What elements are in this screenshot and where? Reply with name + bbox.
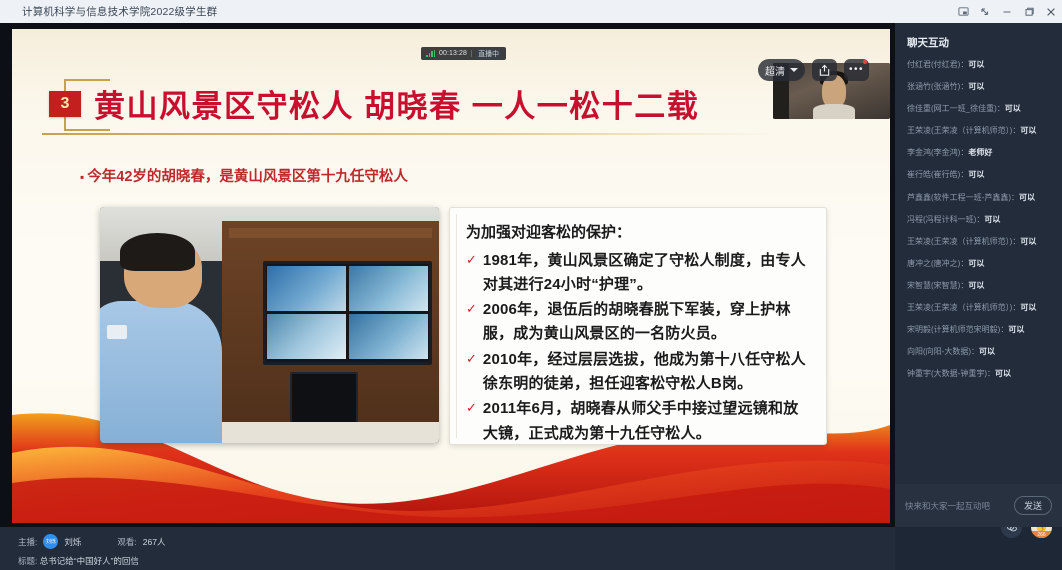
chat-message-sender: 王荣凌(王荣凌（计算机师范）)：: [907, 303, 1020, 312]
chat-message: 向阳(向阳-大数据)：可以: [907, 346, 1050, 358]
chat-message-sender: 宋明毅(计算机师范宋明毅)：: [907, 325, 1008, 334]
chat-message-body: 老师好: [968, 148, 992, 157]
chat-message: 王荣凌(王荣凌（计算机师范）)：可以: [907, 125, 1050, 137]
send-button[interactable]: 发送: [1014, 496, 1052, 515]
textbox-item: ✓ 2010年，经过层层选拔，他成为第十八任守松人徐东明的徒弟，担任迎客松守松人…: [466, 348, 812, 397]
photo-desk: [215, 422, 439, 443]
textbox-item: ✓ 2006年，退伍后的胡晓春脱下军装，穿上护林服，成为黄山风景区的一名防火员。: [466, 298, 812, 347]
avatar[interactable]: 刘烁: [43, 534, 58, 549]
chat-message-body: 可以: [1020, 303, 1036, 312]
chat-message: 王荣凌(王荣凌（计算机师范）)：可以: [907, 302, 1050, 314]
chat-message: 李金鸿(李金鸿)：老师好: [907, 147, 1050, 159]
host-row: 主播: 刘烁 刘烁 观看: 267人: [18, 534, 895, 549]
chat-message-body: 可以: [1019, 193, 1035, 202]
chat-message-sender: 冯程(冯程计科一班)：: [907, 215, 984, 224]
chat-message: 宋智慧(宋智慧)：可以: [907, 280, 1050, 292]
chat-input-placeholder[interactable]: 快来和大家一起互动吧: [905, 500, 1014, 512]
slide-textbox: 为加强对迎客松的保护： ✓ 1981年，黄山风景区确定了守松人制度，由专人对其进…: [449, 207, 827, 445]
chat-message-sender: 唐冲之(唐冲之)：: [907, 259, 968, 268]
subtitle-bullet-icon: ▪: [80, 170, 84, 184]
topic-row: 标题: 总书记给“中国好人”的回信: [18, 555, 895, 567]
chat-message-body: 可以: [984, 215, 1000, 224]
chat-panel-title: 聊天互动: [907, 35, 1062, 50]
chat-message-body: 可以: [1008, 325, 1024, 334]
chat-message-list[interactable]: 付红君(付红君)：可以张涵竹(张涵竹)：可以徐佳重(网工一班_徐佳重)：可以王荣…: [895, 59, 1062, 503]
viewers-label: 观看:: [117, 536, 136, 548]
chat-message-sender: 宋智慧(宋智慧)：: [907, 281, 968, 290]
pip-icon[interactable]: [952, 0, 974, 23]
chat-message-body: 可以: [1005, 104, 1021, 113]
chat-message-body: 可以: [968, 170, 984, 179]
more-options-icon[interactable]: •••: [844, 59, 869, 81]
photo-shelf: [229, 228, 432, 237]
signal-bars-icon: [426, 50, 435, 57]
chat-message-body: 可以: [968, 259, 984, 268]
host-name: 刘烁: [64, 536, 81, 548]
live-status-badge: 00:13:28 直播中: [421, 47, 506, 60]
presentation-slide: 3 黄山风景区守松人 胡晓春 一人一松十二载 ▪今年42岁的胡晓春，是黄山风景区…: [12, 29, 890, 523]
chat-message-body: 可以: [968, 281, 984, 290]
textbox-item: ✓ 2011年6月，胡晓春从师父手中接过望远镜和放大镜，正式成为第十九任守松人。: [466, 397, 812, 446]
photo-person-badge: [107, 325, 127, 339]
share-screen-icon[interactable]: [812, 59, 837, 81]
chat-message: 宋明毅(计算机师范宋明毅)：可以: [907, 324, 1050, 336]
check-icon: ✓: [466, 348, 477, 369]
chevron-down-icon: [790, 68, 798, 72]
chat-panel: 聊天互动 付红君(付红君)：可以张涵竹(张涵竹)：可以徐佳重(网工一班_徐佳重)…: [895, 23, 1062, 527]
chat-message: 徐佳重(网工一班_徐佳重)：可以: [907, 103, 1050, 115]
close-icon[interactable]: [1040, 0, 1062, 23]
host-label: 主播:: [18, 536, 37, 548]
chat-message-sender: 王荣凌(王荣凌（计算机师范）)：: [907, 237, 1020, 246]
chat-message-body: 可以: [979, 347, 995, 356]
title-underline: [42, 133, 772, 135]
stream-info-bar: 主播: 刘烁 刘烁 观看: 267人 标题: 总书记给“中国好人”的回信: [0, 527, 895, 570]
check-icon: ✓: [466, 397, 477, 418]
stream-stage: 3 黄山风景区守松人 胡晓春 一人一松十二载 ▪今年42岁的胡晓春，是黄山风景区…: [0, 23, 895, 527]
chat-message-body: 可以: [968, 60, 984, 69]
window-title-bar: 计算机科学与信息技术学院2022级学生群: [0, 0, 1062, 23]
chat-message-body: 可以: [995, 369, 1011, 378]
topic-value: 总书记给“中国好人”的回信: [40, 556, 139, 566]
chat-message-body: 可以: [1020, 126, 1036, 135]
live-elapsed-time: 00:13:28: [439, 50, 467, 57]
video-controls: 超清 •••: [758, 59, 869, 81]
chat-message: 付红君(付红君)：可以: [907, 59, 1050, 71]
chat-message-body: 可以: [1020, 237, 1036, 246]
chat-message: 崔行皓(崔行皓)：可以: [907, 169, 1050, 181]
slide-title: 黄山风景区守松人 胡晓春 一人一松十二载: [94, 81, 699, 126]
window-title: 计算机科学与信息技术学院2022级学生群: [22, 4, 217, 19]
quality-selector[interactable]: 超清: [758, 59, 805, 81]
chat-message-body: 可以: [968, 82, 984, 91]
chat-message: 冯程(冯程计科一班)：可以: [907, 214, 1050, 226]
viewers-count: 267人: [143, 536, 166, 548]
chat-message: 钟重宇(大数据-钟重宇)：可以: [907, 368, 1050, 380]
maximize-icon[interactable]: [1018, 0, 1040, 23]
chat-message-sender: 崔行皓(崔行皓)：: [907, 170, 968, 179]
textbox-item-text: 1981年，黄山风景区确定了守松人制度，由专人对其进行24小时“护理”。: [483, 249, 812, 298]
window-controls: [952, 0, 1062, 23]
slide-photo: [100, 207, 439, 443]
stage-left-edge: [0, 23, 12, 527]
webcam-person-shirt: [813, 104, 855, 119]
photo-desktop-monitor: [290, 372, 358, 424]
chat-message-sender: 李金鸿(李金鸿)：: [907, 148, 968, 157]
live-stream-window: 计算机科学与信息技术学院2022级学生群 3 黄山风景区守松人 胡: [0, 0, 1062, 570]
subtitle-text: 今年42岁的胡晓春，是黄山风景区第十九任守松人: [87, 169, 408, 185]
divider: [471, 50, 472, 57]
textbox-heading: 为加强对迎客松的保护：: [466, 222, 812, 245]
textbox-item-text: 2011年6月，胡晓春从师父手中接过望远镜和放大镜，正式成为第十九任守松人。: [483, 397, 812, 446]
topic-label: 标题:: [18, 556, 37, 566]
chat-message-sender: 向阳(向阳-大数据)：: [907, 347, 979, 356]
chat-message-sender: 付红君(付红君)：: [907, 60, 968, 69]
chat-message-sender: 张涵竹(张涵竹)：: [907, 82, 968, 91]
notification-dot: [863, 60, 867, 64]
live-state-label: 直播中: [476, 49, 501, 59]
chat-input-bar[interactable]: 快来和大家一起互动吧 发送: [895, 484, 1062, 527]
chat-message: 王荣凌(王荣凌（计算机师范）)：可以: [907, 236, 1050, 248]
slide-number-badge: 3: [49, 91, 81, 117]
textbox-item-text: 2010年，经过层层选拔，他成为第十八任守松人徐东明的徒弟，担任迎客松守松人B岗…: [483, 348, 812, 397]
check-icon: ✓: [466, 298, 477, 319]
chat-message: 芦鑫鑫(软件工程一班-芦鑫鑫)：可以: [907, 192, 1050, 204]
chat-message-sender: 徐佳重(网工一班_徐佳重)：: [907, 104, 1005, 113]
photo-person-body: [100, 301, 222, 443]
photo-person-hair: [120, 233, 195, 271]
minimize-icon[interactable]: [996, 0, 1018, 23]
textbox-item-text: 2006年，退伍后的胡晓春脱下军装，穿上护林服，成为黄山风景区的一名防火员。: [483, 298, 812, 347]
photo-monitor-wall: [263, 261, 433, 365]
chat-message: 唐冲之(唐冲之)：可以: [907, 258, 1050, 270]
restore-down-icon[interactable]: [974, 0, 996, 23]
chat-message: 张涵竹(张涵竹)：可以: [907, 81, 1050, 93]
chat-message-sender: 钟重宇(大数据-钟重宇)：: [907, 369, 995, 378]
slide-subtitle: ▪今年42岁的胡晓春，是黄山风景区第十九任守松人: [80, 165, 408, 186]
textbox-item: ✓ 1981年，黄山风景区确定了守松人制度，由专人对其进行24小时“护理”。: [466, 249, 812, 298]
chat-message-sender: 芦鑫鑫(软件工程一班-芦鑫鑫)：: [907, 193, 1019, 202]
chat-message-sender: 王荣凌(王荣凌（计算机师范）)：: [907, 126, 1020, 135]
quality-label: 超清: [765, 63, 785, 78]
like-count: 266: [1031, 531, 1052, 538]
check-icon: ✓: [466, 249, 477, 270]
